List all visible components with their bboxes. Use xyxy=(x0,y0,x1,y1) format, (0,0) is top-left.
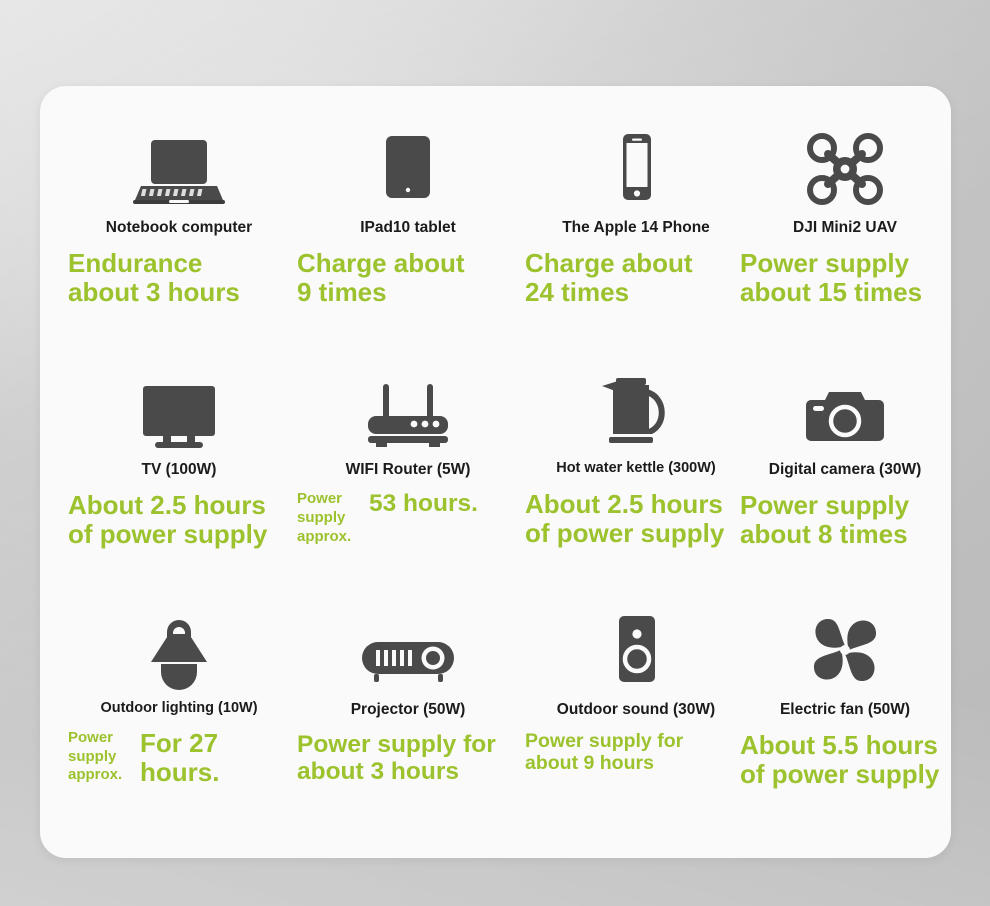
device-label: Digital camera (30W) xyxy=(740,461,950,478)
runtime-line: Endurance xyxy=(68,249,290,278)
smartphone-icon xyxy=(525,116,747,208)
page-root: Notebook computer Endurance about 3 hour… xyxy=(0,0,990,906)
device-runtime: Power supply about 15 times xyxy=(740,249,950,307)
device-cell-projector[interactable]: Projector (50W) Power supply for about 3… xyxy=(297,598,519,786)
device-cell-tv[interactable]: TV (100W) About 2.5 hours of power suppl… xyxy=(68,358,290,549)
kettle-icon xyxy=(525,358,747,450)
device-cell-dji-mini2-uav[interactable]: DJI Mini2 UAV Power supply about 15 time… xyxy=(740,116,950,307)
runtime-line: 24 times xyxy=(525,278,747,307)
device-cell-wifi-router[interactable]: WIFI Router (5W) Power supply approx. 53… xyxy=(297,358,519,546)
runtime-prefix-line: approx. xyxy=(68,766,130,785)
runtime-line: about 3 hours xyxy=(68,278,290,307)
runtime-line: Power supply for xyxy=(297,731,519,758)
runtime-line: Power supply xyxy=(740,491,950,520)
runtime-line: of power supply xyxy=(68,520,290,549)
outdoor-lamp-icon xyxy=(68,598,290,690)
runtime-prefix-line: Power xyxy=(297,490,359,509)
device-grid: Notebook computer Endurance about 3 hour… xyxy=(40,86,951,858)
projector-icon xyxy=(297,598,519,690)
runtime-prefix-line: supply xyxy=(68,748,130,767)
device-label: Projector (50W) xyxy=(297,701,519,718)
device-runtime: Power supply for about 9 hours xyxy=(525,731,747,775)
device-runtime: Power supply for about 3 hours xyxy=(297,731,519,786)
device-label: Electric fan (50W) xyxy=(740,701,950,718)
device-runtime: About 5.5 hours of power supply xyxy=(740,731,950,789)
runtime-line: hours. xyxy=(140,758,219,787)
device-runtime: About 2.5 hours of power supply xyxy=(525,490,747,548)
runtime-value: For 27 hours. xyxy=(140,729,219,787)
runtime-line: Charge about xyxy=(297,249,519,278)
runtime-line: Charge about xyxy=(525,249,747,278)
device-label: DJI Mini2 UAV xyxy=(740,219,950,236)
device-label: TV (100W) xyxy=(68,461,290,478)
runtime-prefix-line: approx. xyxy=(297,528,359,547)
device-label: Outdoor sound (30W) xyxy=(525,701,747,718)
runtime-line: Power supply xyxy=(740,249,950,278)
runtime-line: about 8 times xyxy=(740,520,950,549)
device-runtime: Power supply approx. For 27 hours. xyxy=(68,729,290,787)
runtime-prefix: Power supply approx. xyxy=(297,490,359,546)
device-label: IPad10 tablet xyxy=(297,219,519,236)
device-cell-ipad10-tablet[interactable]: IPad10 tablet Charge about 9 times xyxy=(297,116,519,307)
runtime-line: of power supply xyxy=(525,519,747,548)
runtime-line: about 3 hours xyxy=(297,758,519,785)
runtime-prefix: Power supply approx. xyxy=(68,729,130,785)
device-runtime: Power supply approx. 53 hours. xyxy=(297,490,519,546)
device-runtime: Endurance about 3 hours xyxy=(68,249,290,307)
device-cell-digital-camera[interactable]: Digital camera (30W) Power supply about … xyxy=(740,358,950,549)
laptop-icon xyxy=(68,116,290,208)
device-runtime: About 2.5 hours of power supply xyxy=(68,491,290,549)
device-label: Hot water kettle (300W) xyxy=(525,461,747,477)
speaker-icon xyxy=(525,598,747,690)
runtime-line: about 9 hours xyxy=(525,753,747,775)
drone-icon xyxy=(740,116,950,208)
runtime-value: 53 hours. xyxy=(369,490,478,517)
device-cell-notebook-computer[interactable]: Notebook computer Endurance about 3 hour… xyxy=(68,116,290,307)
device-label: Outdoor lighting (10W) xyxy=(68,701,290,717)
runtime-line: About 2.5 hours xyxy=(68,491,290,520)
runtime-line: For 27 xyxy=(140,729,219,758)
camera-icon xyxy=(740,358,950,450)
runtime-prefix-line: Power xyxy=(68,729,130,748)
runtime-line: 53 hours. xyxy=(369,490,478,517)
device-cell-outdoor-sound[interactable]: Outdoor sound (30W) Power supply for abo… xyxy=(525,598,747,775)
device-label: The Apple 14 Phone xyxy=(525,219,747,236)
device-runtime: Charge about 9 times xyxy=(297,249,519,307)
device-label: WIFI Router (5W) xyxy=(297,461,519,478)
runtime-line: About 2.5 hours xyxy=(525,490,747,519)
device-cell-electric-fan[interactable]: Electric fan (50W) About 5.5 hours of po… xyxy=(740,598,950,789)
fan-icon xyxy=(740,598,950,690)
runtime-line: about 15 times xyxy=(740,278,950,307)
device-label: Notebook computer xyxy=(68,219,290,236)
runtime-line: About 5.5 hours xyxy=(740,731,950,760)
tablet-icon xyxy=(297,116,519,208)
runtime-line: of power supply xyxy=(740,760,950,789)
wifi-router-icon xyxy=(297,358,519,450)
runtime-prefix-line: supply xyxy=(297,509,359,528)
device-cell-hot-water-kettle[interactable]: Hot water kettle (300W) About 2.5 hours … xyxy=(525,358,747,548)
runtime-line: Power supply for xyxy=(525,731,747,753)
device-runtime: Charge about 24 times xyxy=(525,249,747,307)
device-cell-apple-14-phone[interactable]: The Apple 14 Phone Charge about 24 times xyxy=(525,116,747,307)
device-runtime: Power supply about 8 times xyxy=(740,491,950,549)
television-icon xyxy=(68,358,290,450)
runtime-line: 9 times xyxy=(297,278,519,307)
runtime-card: Notebook computer Endurance about 3 hour… xyxy=(40,86,951,858)
device-cell-outdoor-lighting[interactable]: Outdoor lighting (10W) Power supply appr… xyxy=(68,598,290,787)
